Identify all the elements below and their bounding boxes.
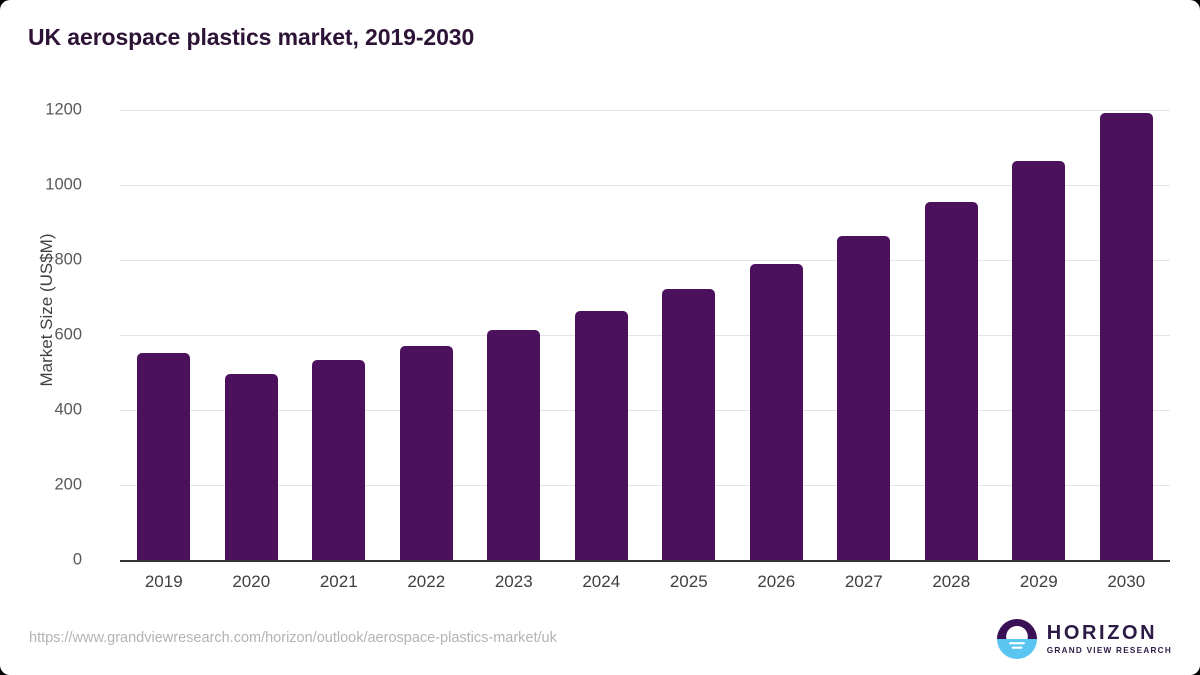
x-tick-label-2023: 2023 <box>469 572 559 592</box>
logo-text-block: HORIZON GRAND VIEW RESEARCH <box>1047 623 1172 655</box>
y-tick-label: 200 <box>0 476 82 495</box>
y-tick-label: 800 <box>0 251 82 270</box>
bar-2019[interactable] <box>137 353 190 560</box>
x-tick-label-2030: 2030 <box>1081 572 1171 592</box>
chart-plot-area: Market Size (US$M) 020040060080010001200… <box>0 0 1200 675</box>
bar-2023[interactable] <box>487 330 540 560</box>
x-tick-label-2024: 2024 <box>556 572 646 592</box>
x-tick-label-2019: 2019 <box>119 572 209 592</box>
bar-2028[interactable] <box>925 202 978 561</box>
horizon-logo-icon <box>996 618 1038 660</box>
y-tick-label: 1000 <box>0 176 82 195</box>
bar-2025[interactable] <box>662 289 715 560</box>
source-url[interactable]: https://www.grandviewresearch.com/horizo… <box>29 630 557 646</box>
bar-2024[interactable] <box>575 311 628 560</box>
chart-screenshot: UK aerospace plastics market, 2019-2030 … <box>0 0 1200 675</box>
x-tick-label-2028: 2028 <box>906 572 996 592</box>
bar-2029[interactable] <box>1012 161 1065 560</box>
y-tick-label: 1200 <box>0 101 82 120</box>
horizon-logo: HORIZON GRAND VIEW RESEARCH <box>996 618 1172 660</box>
x-tick-label-2027: 2027 <box>819 572 909 592</box>
bar-2021[interactable] <box>312 360 365 560</box>
x-tick-label-2025: 2025 <box>644 572 734 592</box>
logo-name: HORIZON <box>1047 623 1172 643</box>
x-tick-label-2022: 2022 <box>381 572 471 592</box>
x-tick-label-2020: 2020 <box>206 572 296 592</box>
x-tick-label-2026: 2026 <box>731 572 821 592</box>
x-tick-label-2021: 2021 <box>294 572 384 592</box>
x-tick-label-2029: 2029 <box>994 572 1084 592</box>
logo-subtitle: GRAND VIEW RESEARCH <box>1047 647 1172 655</box>
bar-2026[interactable] <box>750 264 803 560</box>
bar-2027[interactable] <box>837 236 890 560</box>
bar-2022[interactable] <box>400 346 453 560</box>
y-axis-title: Market Size (US$M) <box>37 200 57 420</box>
y-tick-label: 400 <box>0 401 82 420</box>
y-tick-label: 0 <box>0 551 82 570</box>
bar-2020[interactable] <box>225 374 278 560</box>
bar-2030[interactable] <box>1100 113 1153 560</box>
bars-group: 2019202020212022202320242025202620272028… <box>120 0 1170 675</box>
y-tick-label: 600 <box>0 326 82 345</box>
